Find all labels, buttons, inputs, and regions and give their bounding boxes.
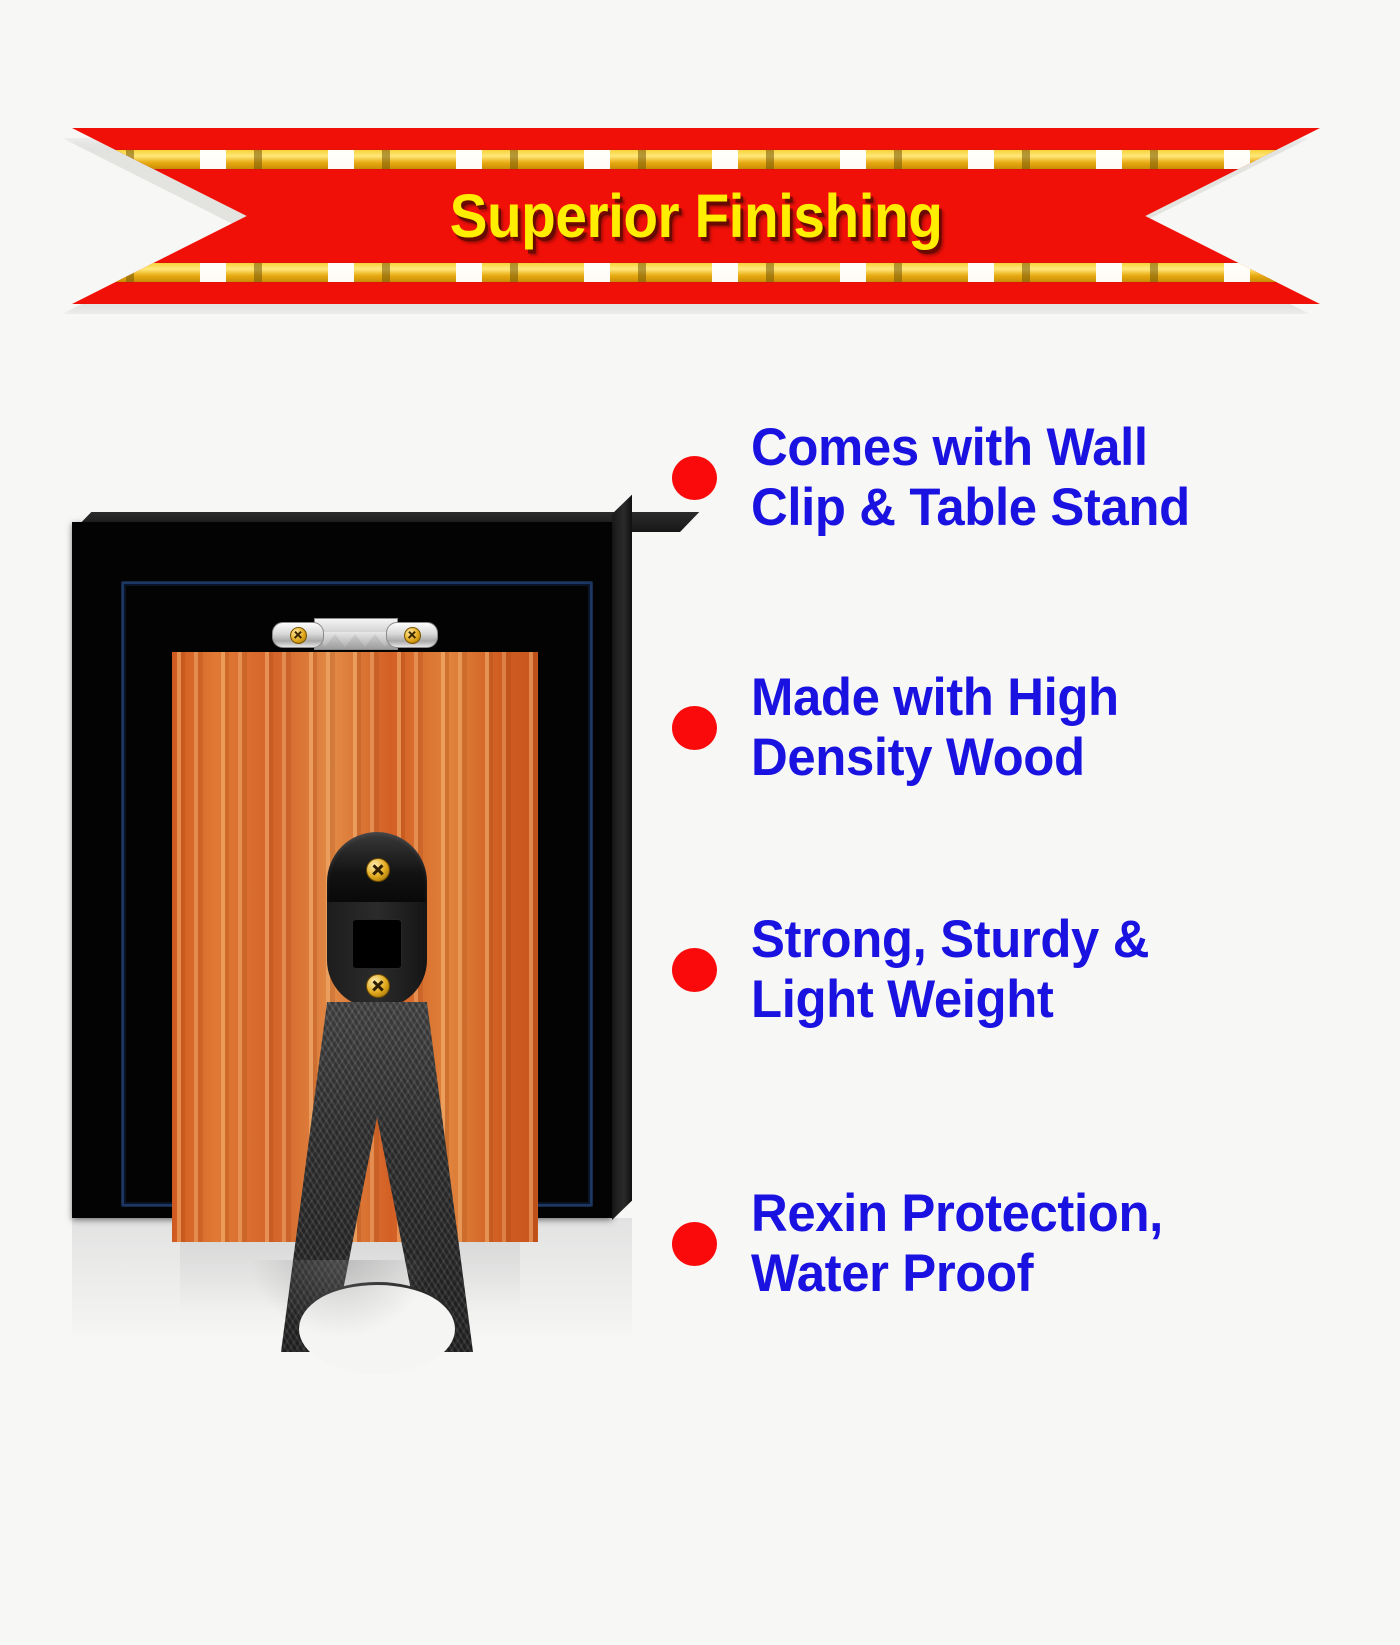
- banner-header: Superior Finishing: [72, 128, 1320, 304]
- feature-list: Comes with Wall Clip & Table Stand Made …: [672, 418, 1340, 1358]
- product-photo: [60, 500, 660, 1360]
- feature-item-3: Rexin Protection, Water Proof: [672, 1184, 1340, 1305]
- hanger-tab-right: [386, 622, 438, 648]
- hanger-tab-left: [272, 622, 324, 648]
- frame-side-bevel: [612, 495, 632, 1220]
- screw-icon: [366, 974, 390, 998]
- feature-text-3: Rexin Protection, Water Proof: [751, 1184, 1163, 1305]
- bullet-dot-icon: [672, 1222, 717, 1266]
- screw-icon: [290, 627, 307, 644]
- bullet-dot-icon: [672, 948, 717, 992]
- feature-text-0: Comes with Wall Clip & Table Stand: [751, 418, 1190, 539]
- bullet-dot-icon: [672, 706, 717, 750]
- feature-item-2: Strong, Sturdy & Light Weight: [672, 910, 1340, 1031]
- screw-icon: [404, 627, 421, 644]
- screw-icon: [366, 858, 390, 882]
- banner-ribbon: Superior Finishing: [72, 128, 1320, 304]
- sawtooth-wall-clip-icon: [272, 618, 438, 648]
- easel-reflection: [250, 1260, 430, 1338]
- photo-frame-body: [72, 522, 612, 1218]
- easel-slot: [353, 920, 401, 968]
- feature-text-1: Made with High Density Wood: [751, 668, 1119, 789]
- feature-text-2: Strong, Sturdy & Light Weight: [751, 910, 1149, 1031]
- bullet-dot-icon: [672, 456, 717, 500]
- feature-item-0: Comes with Wall Clip & Table Stand: [672, 418, 1340, 539]
- banner-title: Superior Finishing: [116, 128, 1277, 304]
- feature-item-1: Made with High Density Wood: [672, 668, 1340, 789]
